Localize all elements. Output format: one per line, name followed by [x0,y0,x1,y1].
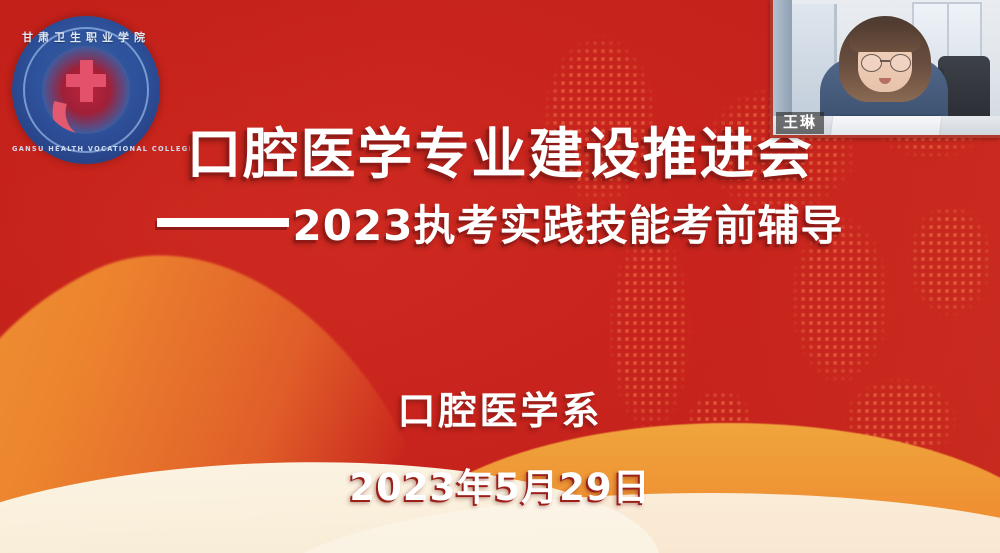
video-curtain [770,0,792,118]
presentation-date: 2023年5月29日 [0,457,1000,511]
video-open-book [831,116,942,138]
department-name: 口腔医学系 [0,380,1000,435]
logo-name-cn: 甘肃卫生职业学院 [12,29,160,45]
eyeglasses-bridge [880,60,890,62]
medical-cross-icon-bar [66,74,106,87]
title-block: 口腔医学专业建设推进会 2023执考实践技能考前辅导 [0,125,1000,253]
slide-subtitle: 2023执考实践技能考前辅导 [293,192,844,253]
logo-core [42,46,130,134]
eyeglasses-icon-right [890,54,911,72]
video-person-bangs [849,22,921,52]
presentation-slide: 甘肃卫生职业学院 GANSU HEALTH VOCATIONAL COLLEGE… [0,0,1000,553]
subtitle-row: 2023执考实践技能考前辅导 [0,192,1000,253]
presenter-info-block: 口腔医学系 2023年5月29日 [0,380,1000,511]
eyeglasses-icon-left [861,54,882,72]
presenter-video-panel[interactable]: 王琳 [770,0,1000,138]
subtitle-dash-rule [157,218,289,227]
presenter-name-tag: 王琳 [776,112,824,134]
